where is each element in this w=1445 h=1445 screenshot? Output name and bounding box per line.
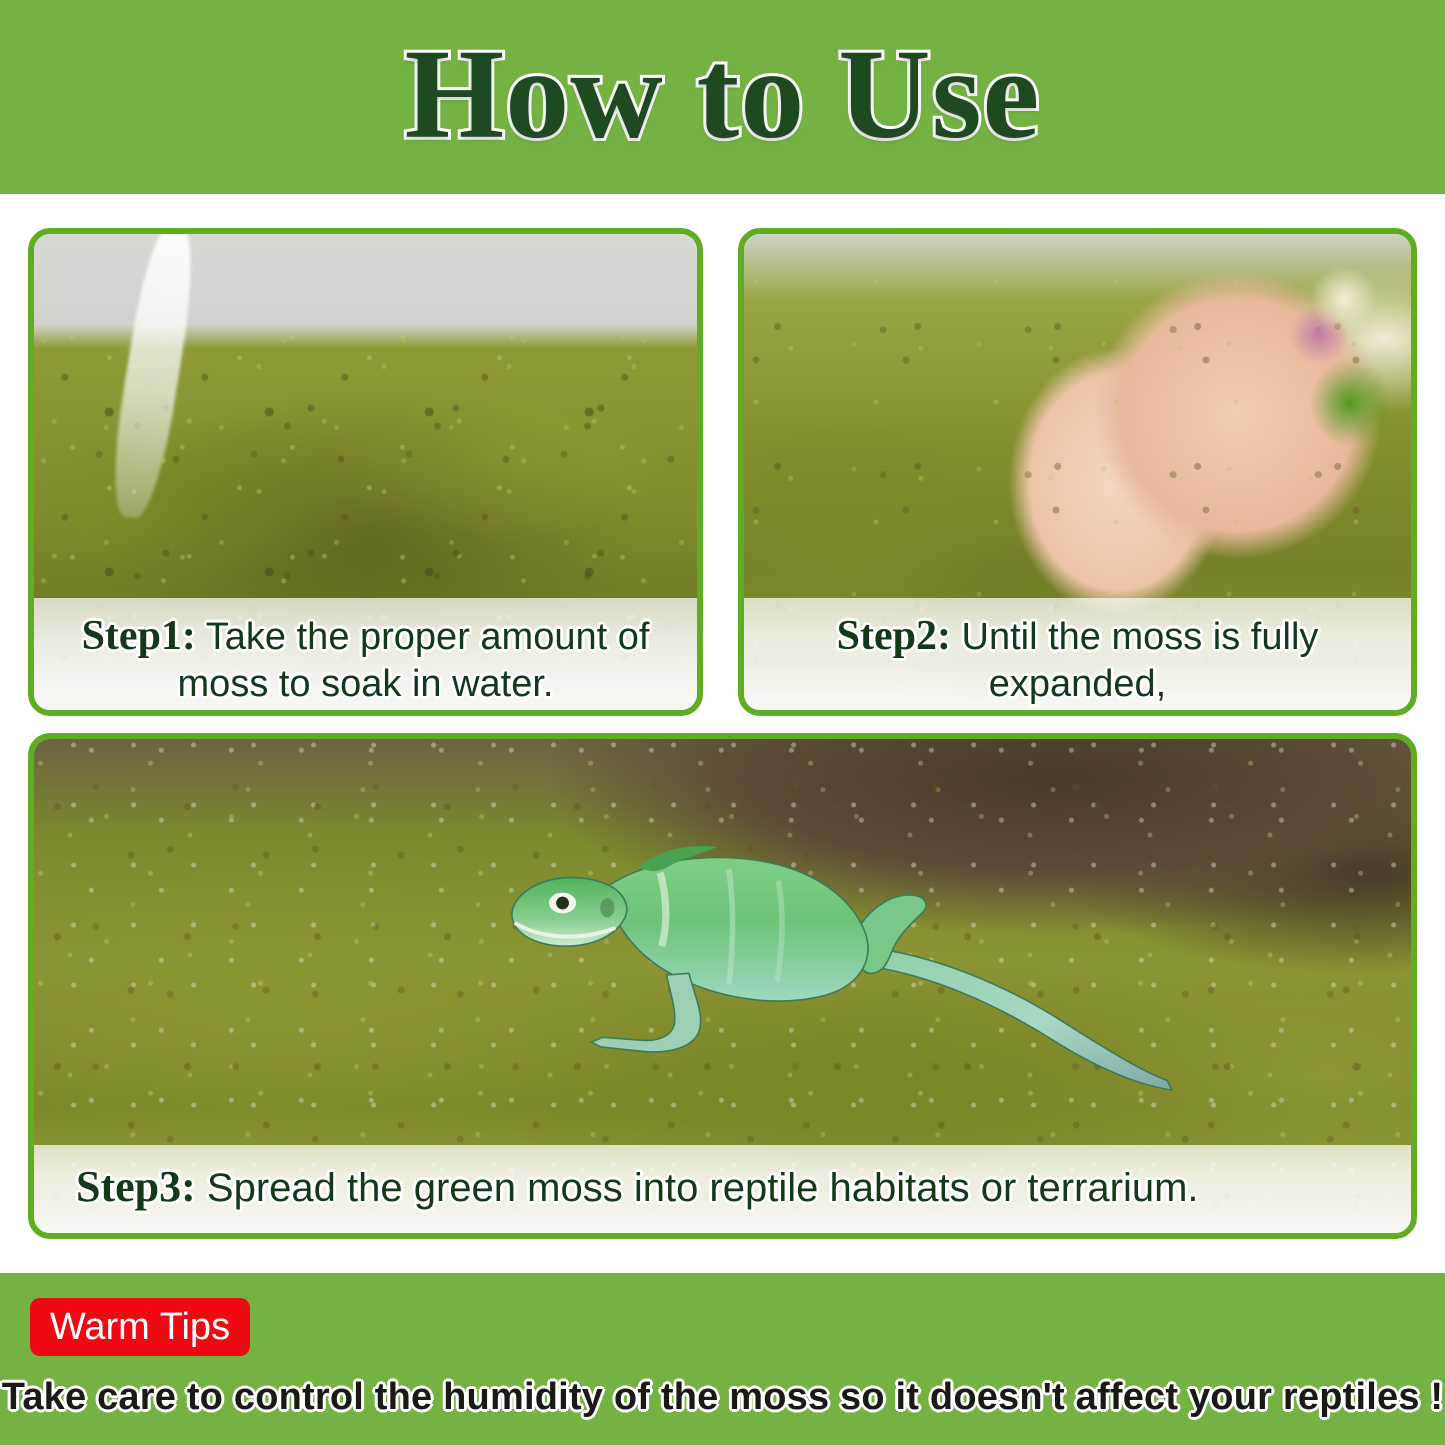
step-2-caption-text: Step2: Until the moss is fully expanded,…	[760, 612, 1395, 716]
footer-band: Warm Tips Take care to control the humid…	[0, 1273, 1445, 1445]
warm-tips-text: Take care to control the humidity of the…	[0, 1376, 1445, 1419]
step-2-caption-line-2: squeeze out the excess water.	[822, 707, 1333, 716]
step-1-caption-line-1: Take the proper amount of	[206, 616, 650, 658]
step-2-caption: Step2: Until the moss is fully expanded,…	[744, 598, 1411, 710]
step-3-caption-text: Step3: Spread the green moss into reptil…	[76, 1161, 1395, 1213]
step-3-label: Step3:	[76, 1162, 196, 1211]
infographic-page: How to Use Step1: Take the proper amount…	[0, 0, 1445, 1445]
step-2-label: Step2:	[837, 613, 951, 659]
step-3-caption: Step3: Spread the green moss into reptil…	[34, 1145, 1411, 1233]
step-panel-1: Step1: Take the proper amount of moss to…	[28, 228, 703, 716]
warm-tips-badge: Warm Tips	[30, 1298, 250, 1356]
step-panel-3: Step3: Spread the green moss into reptil…	[28, 733, 1417, 1239]
warm-tips-label: Warm Tips	[50, 1308, 230, 1346]
step-2-caption-line-1: Until the moss is fully expanded,	[962, 616, 1319, 705]
step-1-caption-line-2: moss to soak in water.	[178, 663, 554, 705]
step-3-caption-line-1: Spread the green moss into reptile habit…	[207, 1166, 1199, 1210]
step-1-caption-text: Step1: Take the proper amount of moss to…	[50, 612, 681, 706]
step-1-label: Step1:	[82, 613, 196, 659]
page-title: How to Use	[405, 30, 1041, 158]
step-1-caption: Step1: Take the proper amount of moss to…	[34, 598, 697, 710]
step-panel-2: Step2: Until the moss is fully expanded,…	[738, 228, 1417, 716]
header-band: How to Use	[0, 0, 1445, 194]
